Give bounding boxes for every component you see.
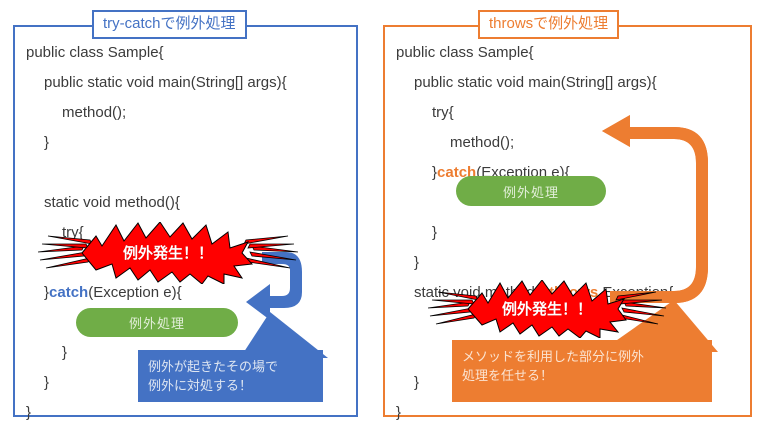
code-segment: method(); [62,104,126,121]
code-segment: } [432,224,437,241]
code-segment: catch [49,284,88,301]
code-segment: } [62,344,67,361]
diagram-canvas: try-catchで例外処理 public class Sample{publi… [0,0,768,432]
code-segment: } [44,134,49,151]
right-explosion-label: 例外発生！！ [428,280,666,338]
left-pill-label: 例外処理 [129,313,185,332]
right-callout-text: メソッドを利用した部分に例外処理を任せる！ [462,349,644,383]
code-segment: static void method(){ [44,194,180,211]
code-line: static void method(){ [26,195,287,225]
code-line: public static void main(String[] args){ [26,75,287,105]
code-segment: } [44,374,49,391]
left-callout-box: 例外が起きたその場で例外に対処する！ [138,350,323,402]
right-exception-handling-pill: 例外処理 [456,176,606,206]
explosion-star-icon: 例外発生！！ [428,280,666,338]
code-segment: (Exception e){ [88,284,181,301]
code-segment: public static void main(String[] args){ [44,74,287,91]
code-segment: } [396,404,401,421]
code-segment: try{ [432,104,454,121]
code-segment: method(); [450,134,514,151]
code-segment: } [414,254,419,271]
code-segment: } [414,374,419,391]
left-exception-handling-pill: 例外処理 [76,308,238,337]
code-line: } [396,405,673,432]
left-explosion-label: 例外発生！！ [38,222,298,284]
code-line: public static void main(String[] args){ [396,75,673,105]
left-panel-title: try-catchで例外処理 [92,10,247,39]
code-segment: } [26,404,31,421]
right-callout-box: メソッドを利用した部分に例外処理を任せる！ [452,340,712,402]
code-line: } [26,135,287,165]
left-callout-text: 例外が起きたその場で例外に対処する！ [148,359,278,393]
right-pill-label: 例外処理 [503,182,559,201]
code-line: public class Sample{ [396,45,673,75]
right-panel-title: throwsで例外処理 [478,10,619,39]
code-line: method(); [26,105,287,135]
code-line [26,165,287,195]
code-segment: public static void main(String[] args){ [414,74,657,91]
code-segment: public class Sample{ [396,44,534,61]
explosion-star-icon: 例外発生！！ [38,222,298,284]
code-segment: public class Sample{ [26,44,164,61]
code-line: } [26,405,287,432]
code-line: public class Sample{ [26,45,287,75]
